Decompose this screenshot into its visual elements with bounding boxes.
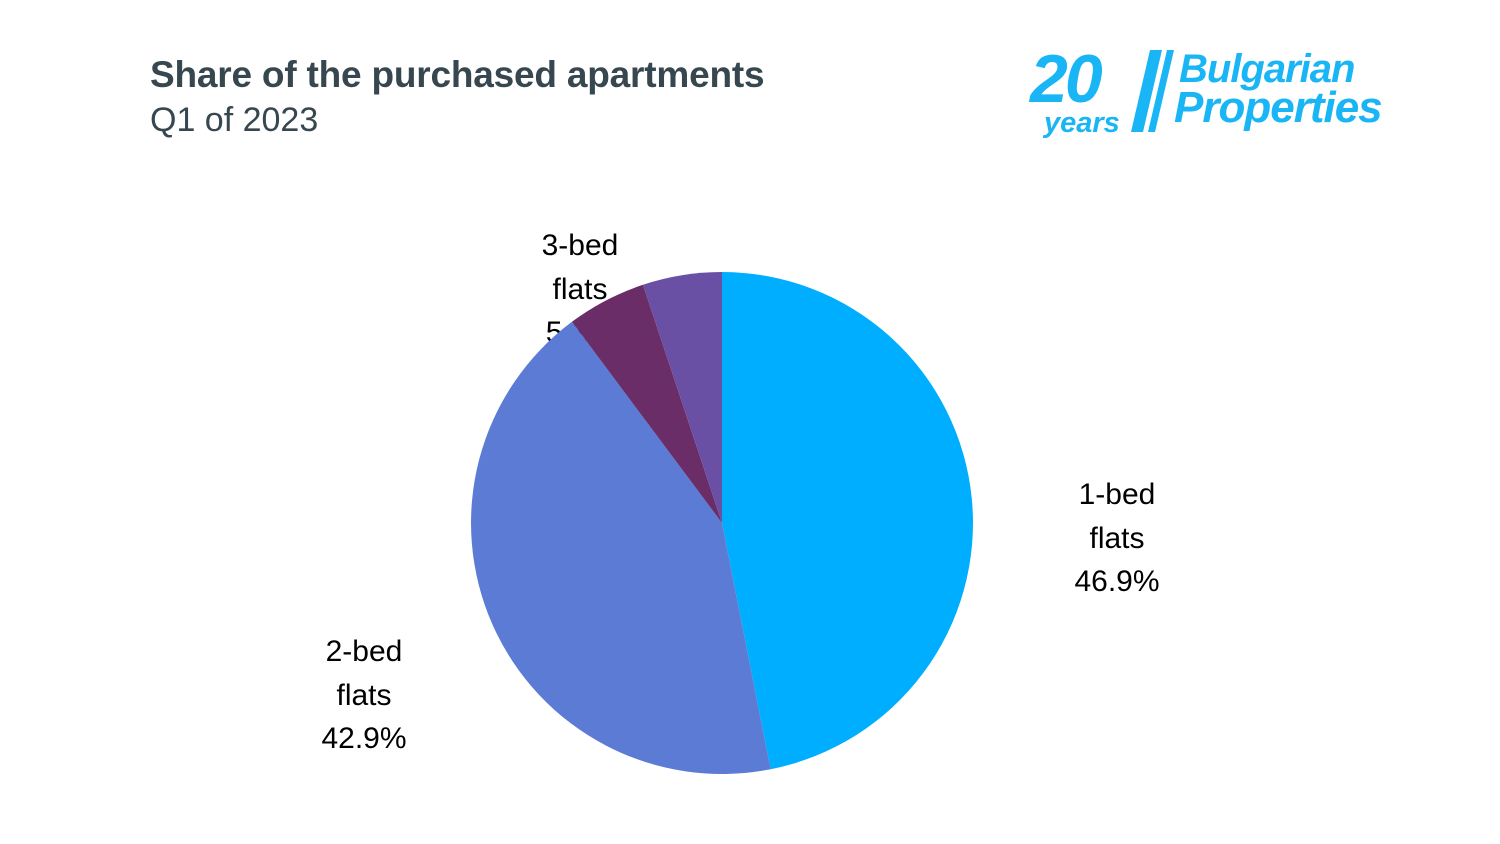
chart-page: Share of the purchased apartments Q1 of … (0, 0, 1500, 844)
pie-label-value: 46.9% (1010, 560, 1224, 604)
pie-slice-group (471, 272, 973, 774)
pie-label-line2: flats (257, 674, 471, 718)
pie-chart (0, 0, 1500, 844)
pie-label-value: 42.9% (257, 717, 471, 761)
pie-label-line2: flats (1010, 517, 1224, 561)
pie-label-1-bed-flats: 1-bed flats 46.9% (1010, 473, 1224, 604)
pie-slice-1-bed-flats[interactable] (722, 272, 973, 769)
pie-label-line1: 2-bed (257, 630, 471, 674)
pie-label-2-bed-flats: 2-bed flats 42.9% (257, 630, 471, 761)
pie-label-line1: 1-bed (1010, 473, 1224, 517)
